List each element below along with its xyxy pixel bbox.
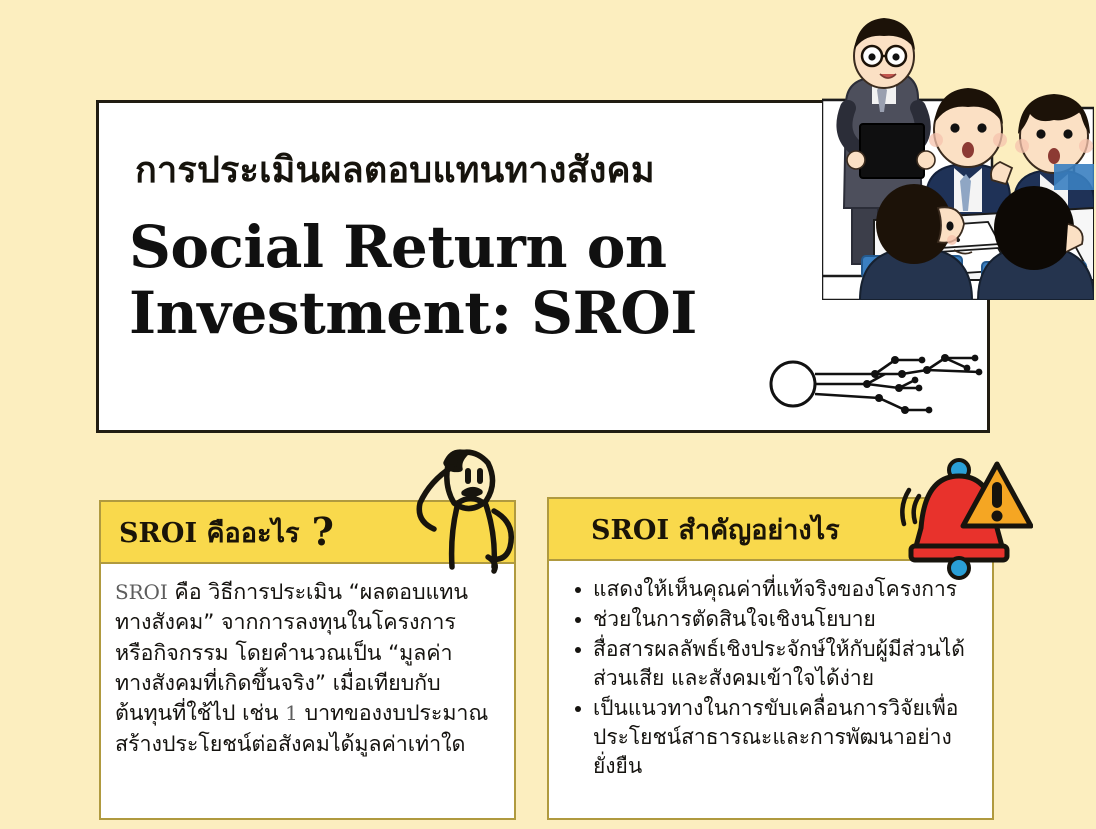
list-item: ช่วยในการตัดสินใจเชิงนโยบาย xyxy=(573,605,974,634)
alarm-bell-warning-icon xyxy=(893,452,1033,582)
body-line-5-post: บาทของงบประมาณ xyxy=(298,701,488,726)
page-title-english-line-2: Investment: SROI xyxy=(129,281,869,347)
card-what-header: SROI คืออะไร ? xyxy=(101,502,514,564)
benefits-list: แสดงให้เห็นคุณค่าที่แท้จริงของโครงการ ช่… xyxy=(563,575,978,781)
numeral-one: 1 xyxy=(285,701,298,725)
body-line-1-rest: คือ วิธีการประเมิน “ผลตอบแทน xyxy=(168,580,468,605)
page-title-english: Social Return on Investment: SROI xyxy=(129,215,869,346)
card-what-header-label: SROI คืออะไร xyxy=(119,511,300,554)
card-why-header-label: SROI สำคัญอย่างไร xyxy=(591,508,840,551)
page-title-thai: การประเมินผลตอบแทนทางสังคม xyxy=(135,141,655,198)
body-line-1: SROI คือ วิธีการประเมิน “ผลตอบแทน xyxy=(115,578,500,608)
card-what-is-sroi: SROI คืออะไร ? SROI คือ วิธีการประเมิน “… xyxy=(99,500,516,820)
card-what-body-text: SROI คือ วิธีการประเมิน “ผลตอบแทน ทางสัง… xyxy=(115,578,500,760)
list-item: สื่อสารผลลัพธ์เชิงประจักษ์ให้กับผู้มีส่ว… xyxy=(573,635,974,693)
page-title-english-line-1: Social Return on xyxy=(129,215,869,281)
question-mark-icon: ? xyxy=(312,517,334,547)
network-circuit-icon xyxy=(767,342,987,422)
body-line-2: ทางสังคม” จากการลงทุนในโครงการ xyxy=(115,608,500,638)
business-meeting-illustration xyxy=(822,12,1094,300)
sroi-acronym: SROI xyxy=(115,580,168,604)
body-line-5-pre: ต้นทุนที่ใช้ไป เช่น xyxy=(115,701,285,726)
body-line-4: ทางสังคมที่เกิดขึ้นจริง” เมื่อเทียบกับ xyxy=(115,669,500,699)
card-why-body: แสดงให้เห็นคุณค่าที่แท้จริงของโครงการ ช่… xyxy=(549,561,992,790)
list-item: เป็นแนวทางในการขับเคลื่อนการวิจัยเพื่อปร… xyxy=(573,694,974,781)
card-what-body: SROI คือ วิธีการประเมิน “ผลตอบแทน ทางสัง… xyxy=(101,564,514,768)
body-line-3: หรือกิจกรรม โดยคำนวณเป็น “มูลค่า xyxy=(115,639,500,669)
body-line-5: ต้นทุนที่ใช้ไป เช่น 1 บาทของงบประมาณ xyxy=(115,699,500,729)
body-line-6: สร้างประโยชน์ต่อสังคมได้มูลค่าเท่าใด xyxy=(115,730,500,760)
